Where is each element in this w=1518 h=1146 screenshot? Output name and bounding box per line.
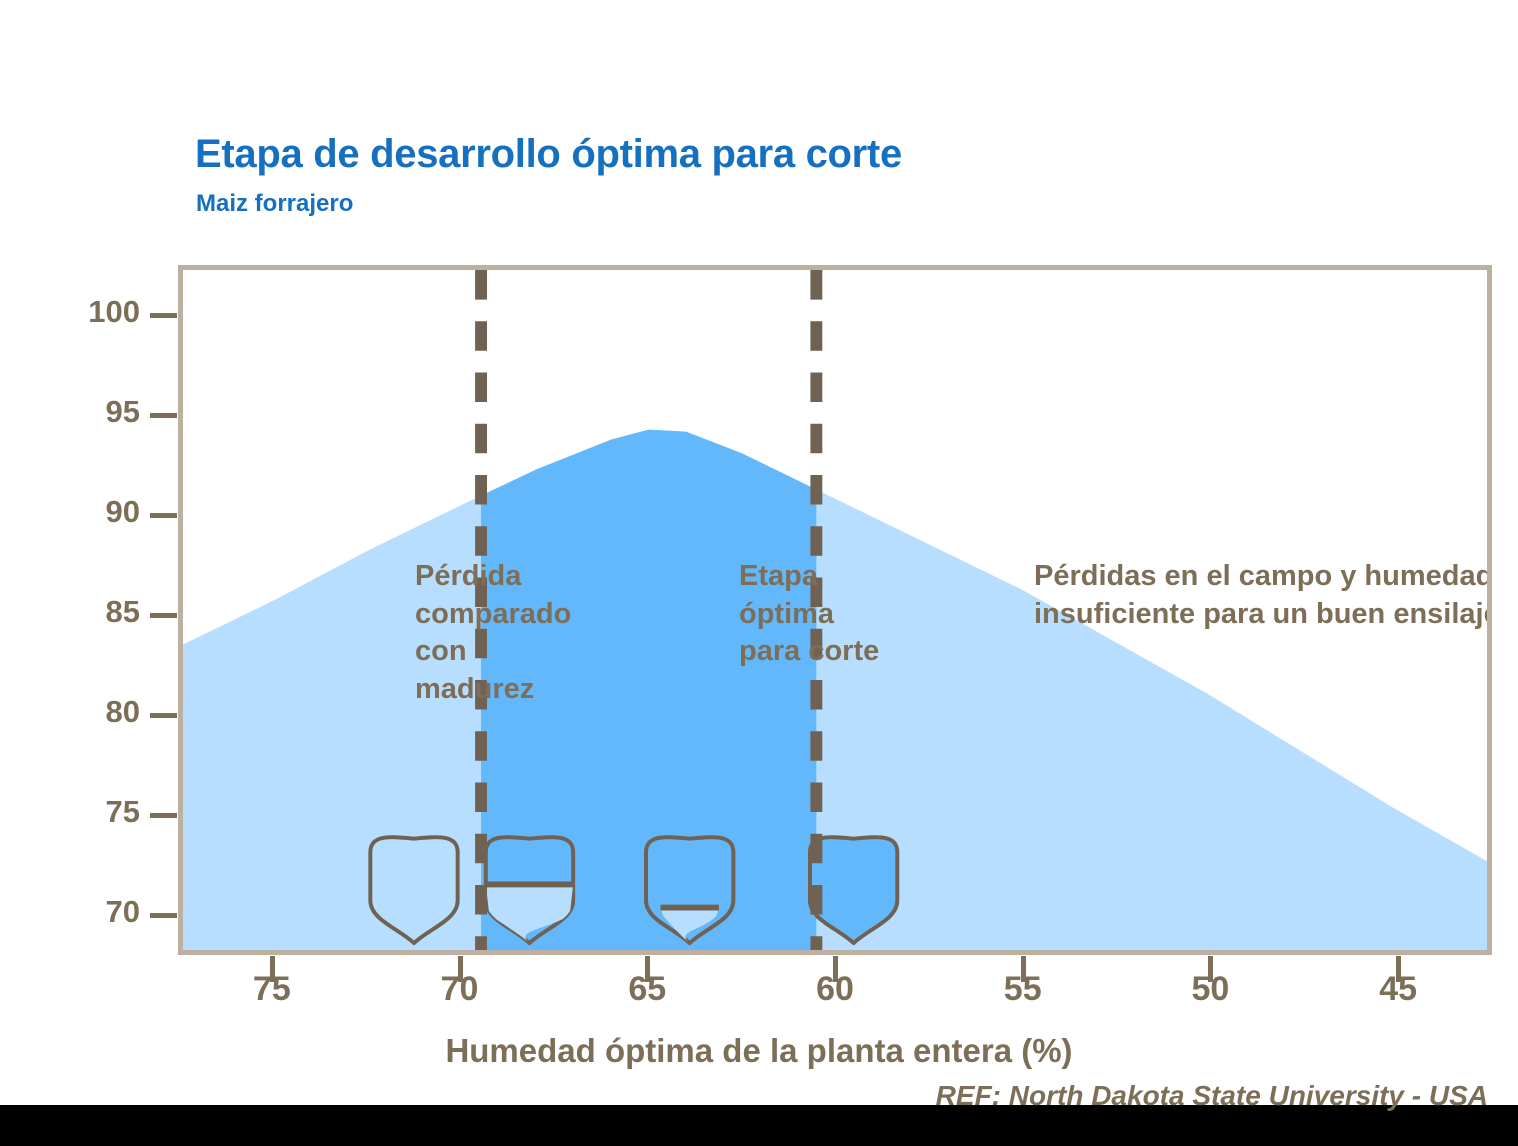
y-tick-label: 100 [50,294,140,330]
y-tick-mark [150,713,177,718]
y-tick-label: 75 [50,794,140,830]
y-tick-mark [150,913,177,918]
x-tick-label: 55 [963,970,1083,1009]
y-tick-label: 95 [50,394,140,430]
y-tick-label: 70 [50,894,140,930]
x-tick-label: 75 [212,970,332,1009]
chart-plot-area: Pérdida comparado con madurez Etapa ópti… [178,265,1492,955]
annotation-loss-vs-maturity: Pérdida comparado con madurez [415,558,675,709]
y-tick-label: 80 [50,694,140,730]
y-tick-mark [150,413,177,418]
annotation-field-losses: Pérdidas en el campo y humedad insuficie… [1034,558,1492,633]
x-tick-label: 50 [1150,970,1270,1009]
x-axis-title: Humedad óptima de la planta entera (%) [0,1032,1518,1070]
annotation-optimal-stage: Etapa óptima para corte [739,558,989,671]
y-tick-label: 85 [50,594,140,630]
y-tick-label: 90 [50,494,140,530]
slide-canvas: Etapa de desarrollo óptima para corte Ma… [0,0,1518,1105]
x-tick-label: 65 [587,970,707,1009]
y-tick-mark [150,613,177,618]
x-tick-label: 70 [400,970,520,1009]
y-tick-mark [150,313,177,318]
y-tick-mark [150,813,177,818]
x-tick-label: 45 [1338,970,1458,1009]
page-subtitle: Maiz forrajero [196,190,353,218]
page-title: Etapa de desarrollo óptima para corte [195,132,902,177]
y-tick-mark [150,513,177,518]
x-tick-label: 60 [775,970,895,1009]
reference-note: REF: North Dakota State University - USA [936,1080,1488,1112]
